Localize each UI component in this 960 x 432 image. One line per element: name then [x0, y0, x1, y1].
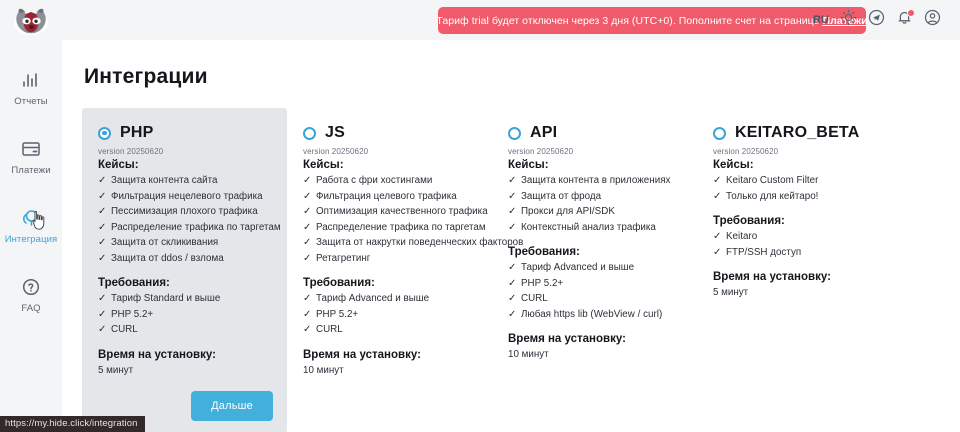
check-icon: ✓ [508, 175, 516, 186]
sidebar: Отчеты Платежи [0, 0, 62, 432]
cases-heading: Кейсы: [713, 159, 888, 171]
telegram-button[interactable] [862, 6, 890, 34]
feature-item: ✓ Фильтрация нецелевого трафика [98, 189, 273, 205]
feature-item: ✓ Защита контента сайта [98, 173, 273, 189]
install-time-value: 10 минут [508, 347, 683, 362]
check-icon: ✓ [508, 262, 516, 273]
check-icon: ✓ [508, 191, 516, 202]
check-icon: ✓ [98, 324, 106, 335]
check-icon: ✓ [303, 309, 311, 320]
notification-badge [907, 9, 915, 17]
check-icon: ✓ [303, 253, 311, 264]
page-title: Интеграции [84, 65, 960, 89]
feature-item: ✓ Пессимизация плохого трафика [98, 204, 273, 220]
sidebar-nav: Отчеты Платежи [0, 59, 62, 335]
sidebar-item-label: Интеграция [5, 234, 58, 245]
feature-item: ✓ CURL [303, 322, 478, 338]
check-icon: ✓ [98, 222, 106, 233]
feature-item: ✓ FTP/SSH доступ [713, 245, 888, 261]
cases-heading: Кейсы: [508, 159, 683, 171]
feature-item: ✓ Работа с фри хостингами [303, 173, 478, 189]
check-icon: ✓ [303, 237, 311, 248]
check-icon: ✓ [98, 293, 106, 304]
bar-chart-icon [18, 68, 44, 92]
user-account-button[interactable] [918, 6, 946, 34]
check-icon: ✓ [303, 222, 311, 233]
sidebar-item-payments[interactable]: Платежи [0, 128, 62, 185]
credit-card-icon [18, 137, 44, 161]
card-version: version 20250620 [303, 147, 478, 156]
radio-button[interactable] [508, 127, 521, 140]
check-icon: ✓ [98, 253, 106, 264]
feature-item: ✓ Любая https lib (WebView / curl) [508, 307, 683, 323]
feature-item: ✓ Keitaro [713, 229, 888, 245]
trial-warning-banner: Тариф trial будет отключен через 3 дня (… [438, 7, 866, 34]
cases-heading: Кейсы: [303, 159, 478, 171]
check-icon: ✓ [508, 309, 516, 320]
check-icon: ✓ [508, 293, 516, 304]
feature-item: ✓ CURL [508, 291, 683, 307]
integration-card[interactable]: KEITARO_BETAversion 20250620Кейсы:✓ Keit… [697, 108, 902, 432]
install-time-value: 5 минут [713, 285, 888, 300]
check-icon: ✓ [508, 278, 516, 289]
feature-item: ✓ Защита от фрода [508, 189, 683, 205]
feature-item: ✓ Защита от ddos / взлома [98, 251, 273, 267]
feature-item: ✓ Keitaro Custom Filter [713, 173, 888, 189]
banner-text: Тариф trial будет отключен через 3 дня (… [436, 15, 867, 27]
theme-toggle-button[interactable] [834, 6, 862, 34]
feature-item: ✓ Защита от накрутки поведенческих факто… [303, 235, 478, 251]
install-time-heading: Время на установку: [508, 333, 683, 345]
check-icon: ✓ [713, 191, 721, 202]
check-icon: ✓ [713, 247, 721, 258]
feature-item: ✓ Тариф Advanced и выше [303, 291, 478, 307]
feature-item: ✓ Прокси для API/SDK [508, 204, 683, 220]
feature-item: ✓ Только для кейтаро! [713, 189, 888, 205]
card-title: API [530, 124, 557, 142]
install-time-heading: Время на установку: [303, 349, 478, 361]
feature-item: ✓ PHP 5.2+ [303, 307, 478, 323]
radio-button[interactable] [713, 127, 726, 140]
check-icon: ✓ [713, 175, 721, 186]
feature-item: ✓ Защита контента в приложениях [508, 173, 683, 189]
feature-item: ✓ CURL [98, 322, 273, 338]
check-icon: ✓ [508, 206, 516, 217]
feature-item: ✓ Тариф Advanced и выше [508, 260, 683, 276]
feature-item: ✓ Распределение трафика по таргетам [98, 220, 273, 236]
check-icon: ✓ [713, 231, 721, 242]
sidebar-item-label: Отчеты [14, 96, 47, 107]
feature-item: ✓ PHP 5.2+ [98, 307, 273, 323]
integration-card[interactable]: PHPversion 20250620Кейсы:✓ Защита контен… [82, 108, 287, 432]
check-icon: ✓ [98, 309, 106, 320]
feature-item: ✓ Контекстный анализ трафика [508, 220, 683, 236]
feature-item: ✓ Оптимизация качественного трафика [303, 204, 478, 220]
check-icon: ✓ [303, 175, 311, 186]
card-version: version 20250620 [508, 147, 683, 156]
cases-heading: Кейсы: [98, 159, 273, 171]
banner-message: Тариф trial будет отключен через 3 дня (… [436, 15, 822, 27]
card-title: KEITARO_BETA [735, 124, 859, 142]
card-version: version 20250620 [98, 147, 273, 156]
main-content: Интеграции PHPversion 20250620Кейсы:✓ За… [62, 40, 960, 432]
integration-card[interactable]: JSversion 20250620Кейсы:✓ Работа с фри х… [287, 108, 492, 432]
brightness-icon [840, 9, 857, 31]
check-icon: ✓ [98, 206, 106, 217]
check-icon: ✓ [303, 293, 311, 304]
question-circle-icon [18, 275, 44, 299]
card-version: version 20250620 [713, 147, 888, 156]
check-icon: ✓ [303, 206, 311, 217]
requirements-heading: Требования: [713, 215, 888, 227]
top-bar: Тариф trial будет отключен через 3 дня (… [62, 0, 960, 40]
app-window: Отчеты Платежи [0, 0, 960, 432]
check-icon: ✓ [98, 237, 106, 248]
next-button[interactable]: Дальше [191, 391, 273, 421]
check-icon: ✓ [303, 324, 311, 335]
integration-card[interactable]: APIversion 20250620Кейсы:✓ Защита контен… [492, 108, 697, 432]
sidebar-item-integration[interactable]: Интеграция [0, 197, 62, 254]
card-header: PHP [98, 124, 273, 142]
sidebar-item-reports[interactable]: Отчеты [0, 59, 62, 116]
notifications-button[interactable] [890, 6, 918, 34]
check-icon: ✓ [98, 191, 106, 202]
feature-item: ✓ Распределение трафика по таргетам [303, 220, 478, 236]
user-avatar-icon [924, 9, 941, 31]
card-title: PHP [120, 124, 154, 142]
language-switcher[interactable]: RU [808, 6, 834, 34]
install-time-heading: Время на установку: [713, 271, 888, 283]
feature-item: ✓ Тариф Standard и выше [98, 291, 273, 307]
card-header: JS [303, 124, 478, 142]
telegram-icon [868, 9, 885, 31]
requirements-heading: Требования: [98, 277, 273, 289]
raccoon-logo[interactable] [11, 5, 51, 37]
integration-cards: PHPversion 20250620Кейсы:✓ Защита контен… [62, 108, 960, 432]
install-time-heading: Время на установку: [98, 349, 273, 361]
check-icon: ✓ [98, 175, 106, 186]
sidebar-item-label: Платежи [11, 165, 50, 176]
card-header: KEITARO_BETA [713, 124, 888, 142]
feature-item: ✓ Защита от скликивания [98, 235, 273, 251]
check-icon: ✓ [303, 191, 311, 202]
requirements-heading: Требования: [303, 277, 478, 289]
check-icon: ✓ [508, 222, 516, 233]
integration-icon [18, 206, 44, 230]
feature-item: ✓ Ретагретинг [303, 251, 478, 267]
install-time-value: 5 минут [98, 363, 273, 378]
sidebar-item-faq[interactable]: FAQ [0, 266, 62, 323]
requirements-heading: Требования: [508, 246, 683, 258]
feature-item: ✓ Фильтрация целевого трафика [303, 189, 478, 205]
feature-item: ✓ PHP 5.2+ [508, 276, 683, 292]
radio-button[interactable] [98, 127, 111, 140]
sidebar-item-label: FAQ [21, 303, 40, 314]
radio-button[interactable] [303, 127, 316, 140]
install-time-value: 10 минут [303, 363, 478, 378]
card-title: JS [325, 124, 345, 142]
status-bar-url: https://my.hide.click/integration [0, 416, 145, 432]
card-header: API [508, 124, 683, 142]
